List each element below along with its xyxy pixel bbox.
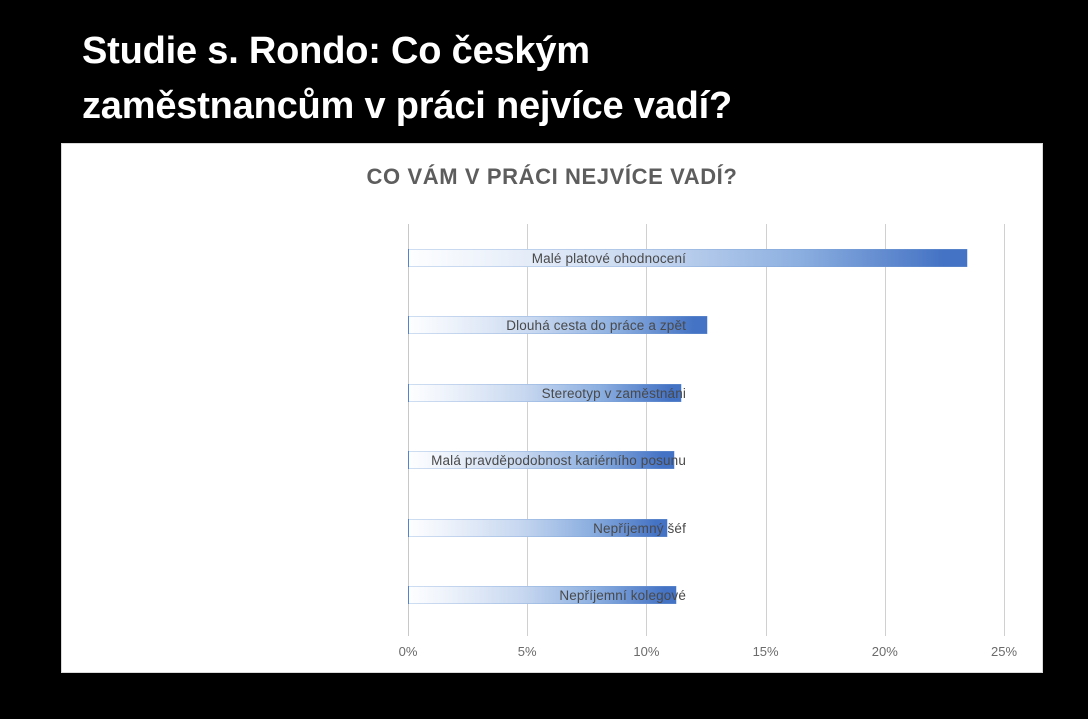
chart-card: CO VÁM V PRÁCI NEJVÍCE VADÍ? 0%5%10%15%2… [61, 143, 1043, 673]
bar-row[interactable] [408, 586, 1004, 604]
bar[interactable] [408, 249, 968, 267]
gridline-25% [1004, 224, 1005, 636]
gridline-15% [766, 224, 767, 636]
category-label: Nepříjemní kolegové [559, 588, 686, 603]
chart-plot-area: 0%5%10%15%20%25% [408, 224, 1004, 636]
category-label: Dlouhá cesta do práce a zpět [506, 318, 686, 333]
x-axis-tick-label: 5% [518, 644, 537, 659]
x-axis-tick-label: 25% [991, 644, 1017, 659]
category-label: Malá pravděpodobnost kariérního posunu [431, 453, 686, 468]
gridline-20% [885, 224, 886, 636]
gridline-0% [408, 224, 409, 636]
category-label: Nepříjemný šéf [593, 521, 686, 536]
bar-row[interactable] [408, 249, 1004, 267]
chart-title: CO VÁM V PRÁCI NEJVÍCE VADÍ? [62, 164, 1042, 190]
x-axis-tick-label: 0% [399, 644, 418, 659]
bar-row[interactable] [408, 384, 1004, 402]
bar-row[interactable] [408, 316, 1004, 334]
category-label: Stereotyp v zaměstnáni [542, 386, 686, 401]
gridline-5% [527, 224, 528, 636]
slide-heading: Studie s. Rondo: Co českým zaměstnancům … [82, 24, 982, 134]
x-axis-tick-label: 20% [872, 644, 898, 659]
x-axis-tick-label: 15% [753, 644, 779, 659]
bar-row[interactable] [408, 519, 1004, 537]
gridline-10% [646, 224, 647, 636]
category-label: Malé platové ohodnocení [532, 251, 686, 266]
x-axis-tick-label: 10% [633, 644, 659, 659]
